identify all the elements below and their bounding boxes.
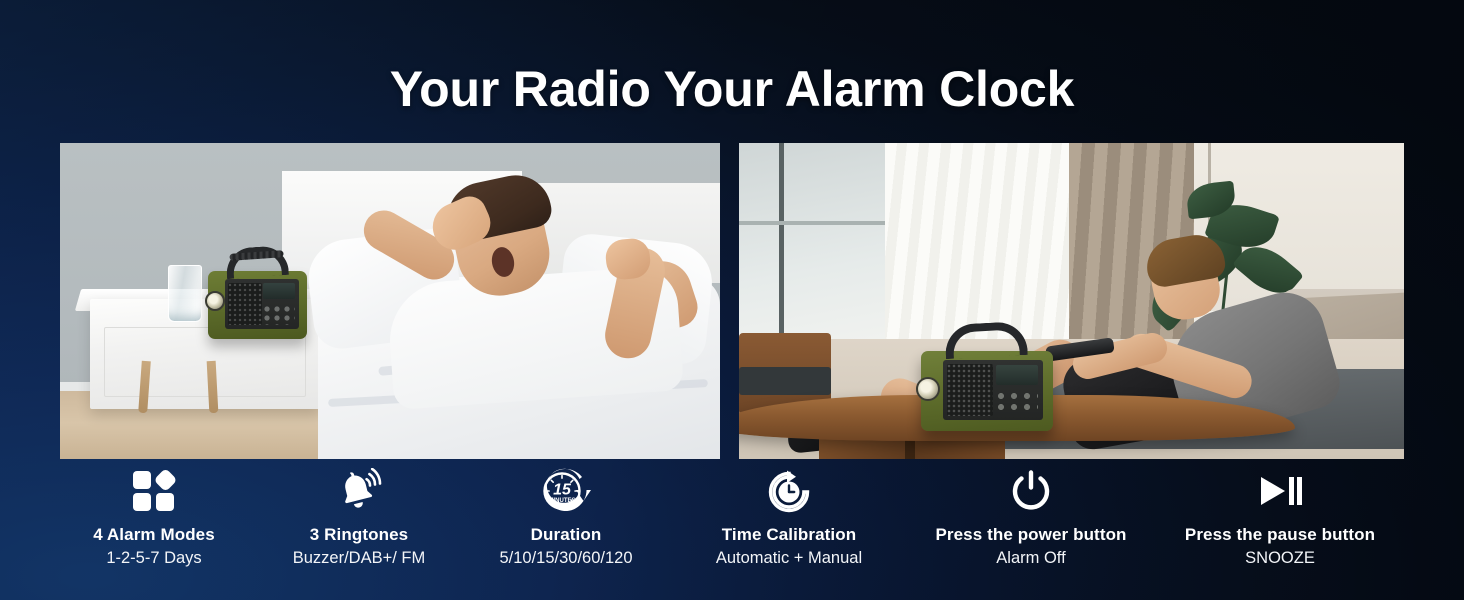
bedroom-photo: [60, 143, 720, 459]
emergency-radio-product: [208, 271, 307, 339]
radio-display: [996, 365, 1038, 385]
feature-list: 4 Alarm Modes 1-2-5-7 Days 3 Ri: [0, 468, 1464, 600]
feature-title: 3 Ringtones: [310, 524, 408, 545]
radio-display: [263, 283, 295, 299]
four-modes-icon: [132, 468, 176, 514]
window: [739, 143, 889, 353]
feature-title: Time Calibration: [722, 524, 856, 545]
duration-unit: MINUTES: [549, 498, 576, 504]
feature-subtitle: SNOOZE: [1245, 548, 1315, 569]
play-pause-icon: [1255, 468, 1305, 514]
feature-title: 4 Alarm Modes: [93, 524, 215, 545]
radio-flashlight: [205, 291, 225, 311]
feature-item-power-button: Press the power button Alarm Off: [910, 468, 1152, 570]
duration-15-minutes-icon: 15 MINUTES: [538, 468, 594, 514]
feature-item-pause-button: Press the pause button SNOOZE: [1160, 468, 1400, 570]
feature-item-alarm-modes: 4 Alarm Modes 1-2-5-7 Days: [58, 468, 250, 570]
ringing-bell-icon: [333, 468, 385, 514]
feature-subtitle: 5/10/15/30/60/120: [499, 548, 632, 569]
radio-front-panel: [943, 360, 1043, 420]
emergency-radio-product: [921, 351, 1053, 431]
feature-subtitle: Buzzer/DAB+/ FM: [293, 548, 426, 569]
radio-buttons: [996, 391, 1038, 415]
feature-title: Press the power button: [935, 524, 1126, 545]
photo-row: [60, 143, 1404, 459]
feature-subtitle: 1-2-5-7 Days: [106, 548, 201, 569]
radio-front-panel: [225, 279, 299, 329]
feature-title: Duration: [531, 524, 602, 545]
water-glass: [168, 265, 202, 322]
radio-buttons: [263, 305, 295, 325]
feature-subtitle: Alarm Off: [996, 548, 1065, 569]
feature-item-ringtones: 3 Ringtones Buzzer/DAB+/ FM: [252, 468, 466, 570]
feature-item-time-calibration: Time Calibration Automatic + Manual: [676, 468, 902, 570]
feature-subtitle: Automatic + Manual: [716, 548, 862, 569]
radio-speaker-grille: [947, 364, 993, 416]
radio-flashlight: [916, 377, 940, 401]
product-feature-banner: Your Radio Your Alarm Clock: [0, 0, 1464, 600]
power-icon: [1009, 468, 1053, 514]
feature-item-duration: 15 MINUTES Duration 5/10/15/30/60/120: [466, 468, 666, 570]
feature-title: Press the pause button: [1185, 524, 1375, 545]
page-title: Your Radio Your Alarm Clock: [0, 64, 1464, 114]
livingroom-photo: [739, 143, 1404, 459]
radio-speaker-grille: [228, 283, 262, 325]
clock-refresh-icon: [765, 468, 813, 514]
duration-number: 15: [553, 482, 572, 499]
